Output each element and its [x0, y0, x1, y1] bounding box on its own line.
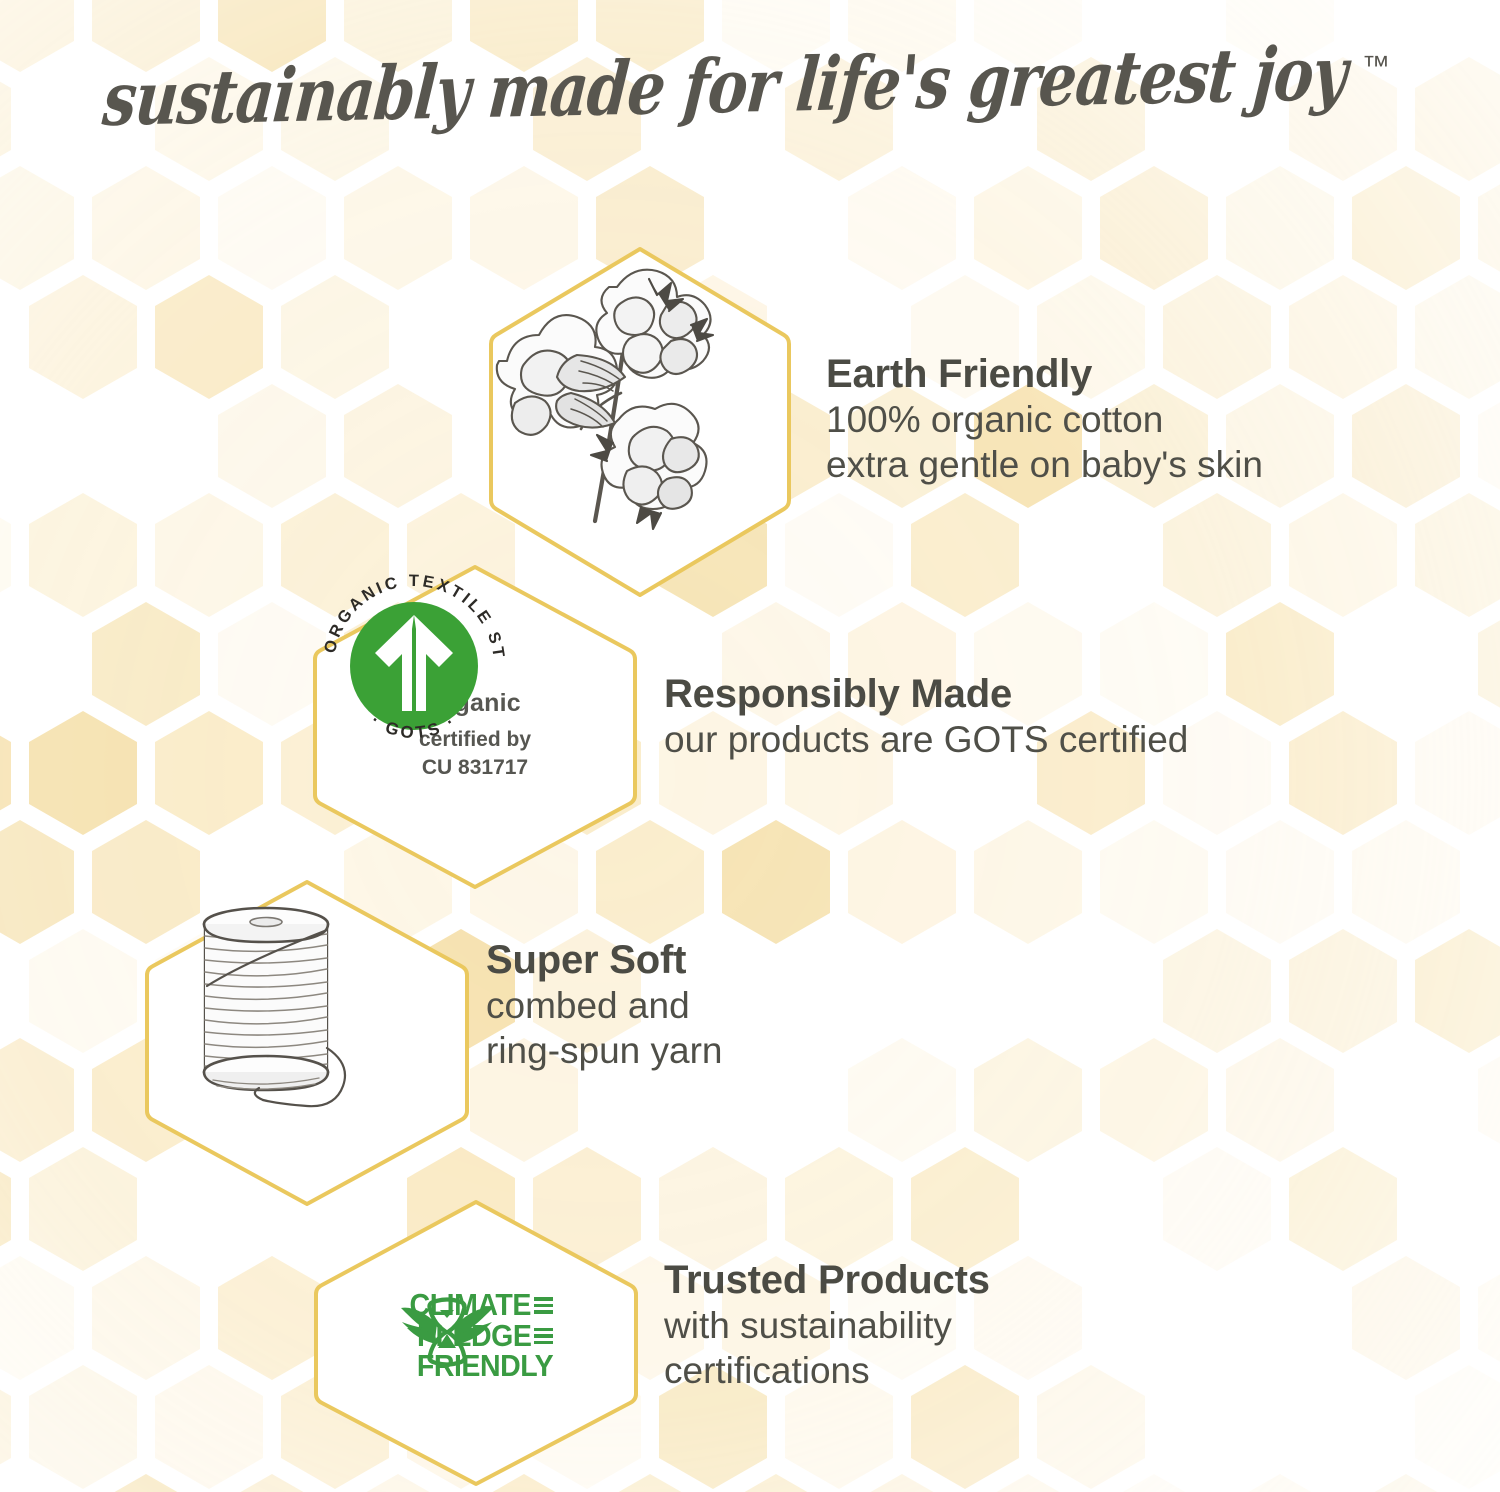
cpf-bars-icon — [534, 1297, 553, 1314]
feature-title: Responsibly Made — [664, 672, 1188, 717]
feature-hex-super-soft[interactable] — [141, 876, 473, 1210]
cotton-boll-icon — [485, 243, 745, 533]
feature-line: our products are GOTS certified — [664, 717, 1188, 762]
feature-hex-earth-friendly[interactable] — [485, 243, 795, 601]
feature-text-trusted-products: Trusted Products with sustainability cer… — [664, 1258, 990, 1393]
feature-line: combed and — [486, 983, 723, 1028]
feature-title: Super Soft — [486, 938, 723, 983]
feature-title: Earth Friendly — [826, 352, 1263, 397]
sustainability-infographic: sustainably made for life's greatest joy… — [0, 0, 1500, 1492]
thread-spool-icon — [141, 876, 391, 1126]
headline-script-text: sustainably made for life's greatest joy… — [100, 41, 1400, 161]
gots-seal-icon: GLOBAL ORGANIC TEXTILE STANDARD · GOTS · — [309, 561, 519, 771]
feature-line: 100% organic cotton — [826, 397, 1263, 442]
feature-text-earth-friendly: Earth Friendly 100% organic cotton extra… — [826, 352, 1263, 487]
cpf-bars-icon — [534, 1328, 553, 1345]
feature-hex-trusted-products[interactable]: CLIMATE PLEDGE FRIENDLY — [310, 1196, 642, 1488]
feature-text-responsibly-made: Responsibly Made our products are GOTS c… — [664, 672, 1188, 762]
feature-hex-responsibly-made[interactable]: GLOBAL ORGANIC TEXTILE STANDARD · GOTS ·… — [309, 561, 641, 893]
climate-pledge-friendly-icon: CLIMATE PLEDGE FRIENDLY — [399, 1290, 553, 1381]
headline-banner: sustainably made for life's greatest joy… — [0, 46, 1500, 156]
winged-hourglass-icon — [399, 1290, 495, 1374]
headline-text: sustainably made for life's greatest joy — [100, 41, 1354, 143]
feature-line: with sustainability — [664, 1303, 990, 1348]
feature-line: extra gentle on baby's skin — [826, 442, 1263, 487]
feature-title: Trusted Products — [664, 1258, 990, 1303]
trademark-symbol: ™ — [1362, 50, 1390, 81]
feature-line: ring-spun yarn — [486, 1028, 723, 1073]
feature-line: certifications — [664, 1348, 990, 1393]
feature-text-super-soft: Super Soft combed and ring-spun yarn — [486, 938, 723, 1073]
gots-certification-icon: GLOBAL ORGANIC TEXTILE STANDARD · GOTS ·… — [419, 673, 531, 782]
